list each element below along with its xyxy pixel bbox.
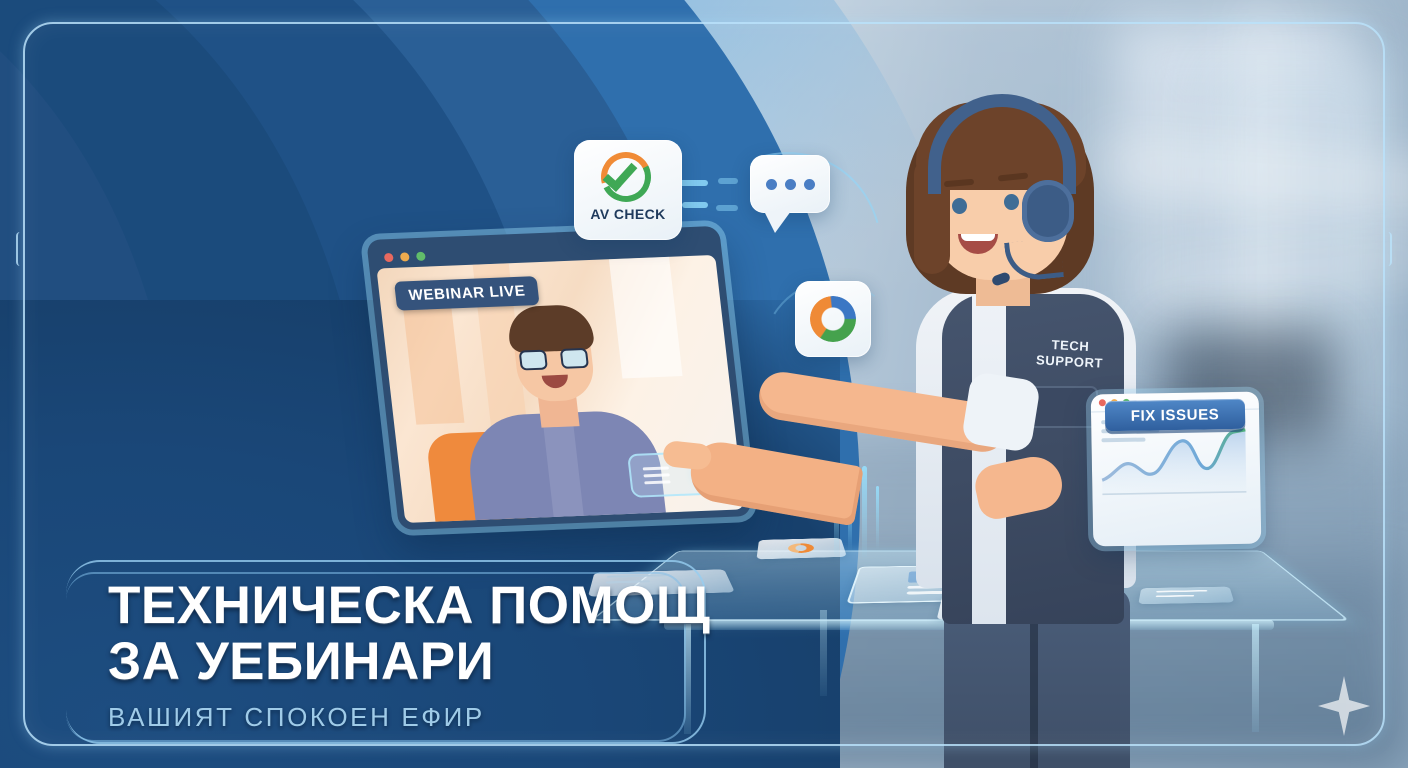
dashboard-body: FIX ISSUES — [1091, 410, 1259, 443]
tech-support-line-2: SUPPORT — [1036, 352, 1104, 370]
table-leg-back — [820, 610, 827, 696]
agent-sleeve — [961, 371, 1041, 453]
maximize-icon[interactable] — [416, 251, 426, 260]
tech-support-label: TECH SUPPORT — [1027, 336, 1113, 372]
av-check-label: AV CHECK — [580, 206, 676, 222]
title-plate: ТЕХНИЧЕСКА ПОМОЩ ЗА УЕБИНАРИ ВАШИЯТ СПОК… — [66, 560, 706, 744]
agent-eye-left — [952, 198, 967, 214]
page-title: ТЕХНИЧЕСКА ПОМОЩ ЗА УЕБИНАРИ ВАШИЯТ СПОК… — [108, 578, 708, 733]
tech-support-line-1: TECH — [1051, 337, 1090, 354]
subtitle: ВАШИЯТ СПОКОЕН ЕФИР — [108, 702, 708, 733]
close-icon[interactable] — [384, 252, 394, 261]
holo-beam-4 — [876, 486, 879, 550]
title-line-2: ЗА УЕБИНАРИ — [108, 634, 708, 690]
minimize-icon[interactable] — [400, 252, 410, 261]
frame-notch-left — [16, 232, 30, 266]
donut-chart-icon — [810, 296, 856, 342]
agent-eye-right — [1004, 194, 1019, 210]
area-chart-icon — [1099, 426, 1250, 499]
chat-bubble-card[interactable] — [750, 155, 830, 213]
glasses-icon — [519, 348, 589, 371]
donut-chart-card[interactable] — [795, 281, 871, 357]
table-leg-right — [1252, 624, 1259, 732]
headset-earcup-icon — [1022, 180, 1074, 242]
agent-vest-opening — [972, 294, 1006, 624]
av-check-card[interactable]: AV CHECK — [574, 140, 682, 240]
hero-banner: WEBINAR LIVE AV CHECK — [0, 0, 1408, 768]
settings-lines-icon — [643, 466, 671, 484]
frame-notch-right — [1378, 232, 1392, 266]
title-line-1: ТЕХНИЧЕСКА ПОМОЩ — [108, 578, 708, 634]
webinar-live-badge: WEBINAR LIVE — [394, 276, 540, 311]
av-check-icon — [597, 150, 659, 202]
chat-bubble-tail — [764, 211, 791, 233]
holo-beam-3 — [862, 466, 867, 562]
webinar-video-area: WEBINAR LIVE — [376, 255, 744, 523]
fix-issues-card[interactable]: FIX ISSUES — [1091, 392, 1262, 547]
typing-dots-icon — [750, 155, 830, 213]
room-wall-strip-1 — [403, 303, 465, 424]
fix-issues-button[interactable]: FIX ISSUES — [1105, 399, 1246, 431]
room-window-strip — [609, 257, 683, 379]
mini-donut-icon — [788, 543, 815, 553]
presenter-hair — [506, 304, 595, 353]
